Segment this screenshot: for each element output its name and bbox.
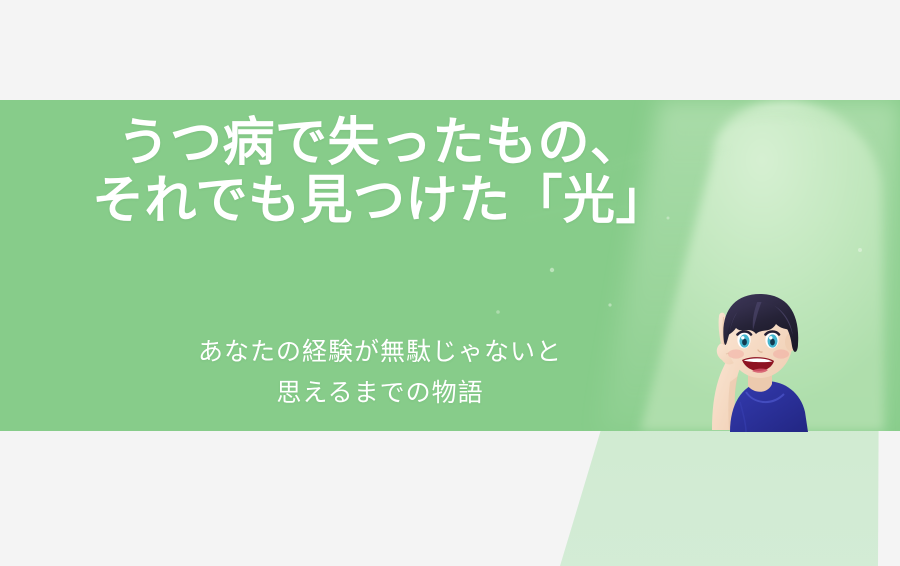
anime-boy-pointing-up-icon <box>672 282 832 432</box>
banner-subheadline: あなたの経験が無駄じゃないと 思えるまでの物語 <box>0 332 760 413</box>
hero-banner: うつ病で失ったもの、 それでも見つけた「光」 あなたの経験が無駄じゃないと 思え… <box>0 0 900 566</box>
banner-headline: うつ病で失ったもの、 それでも見つけた「光」 <box>0 114 760 230</box>
character-illustration <box>672 282 832 432</box>
